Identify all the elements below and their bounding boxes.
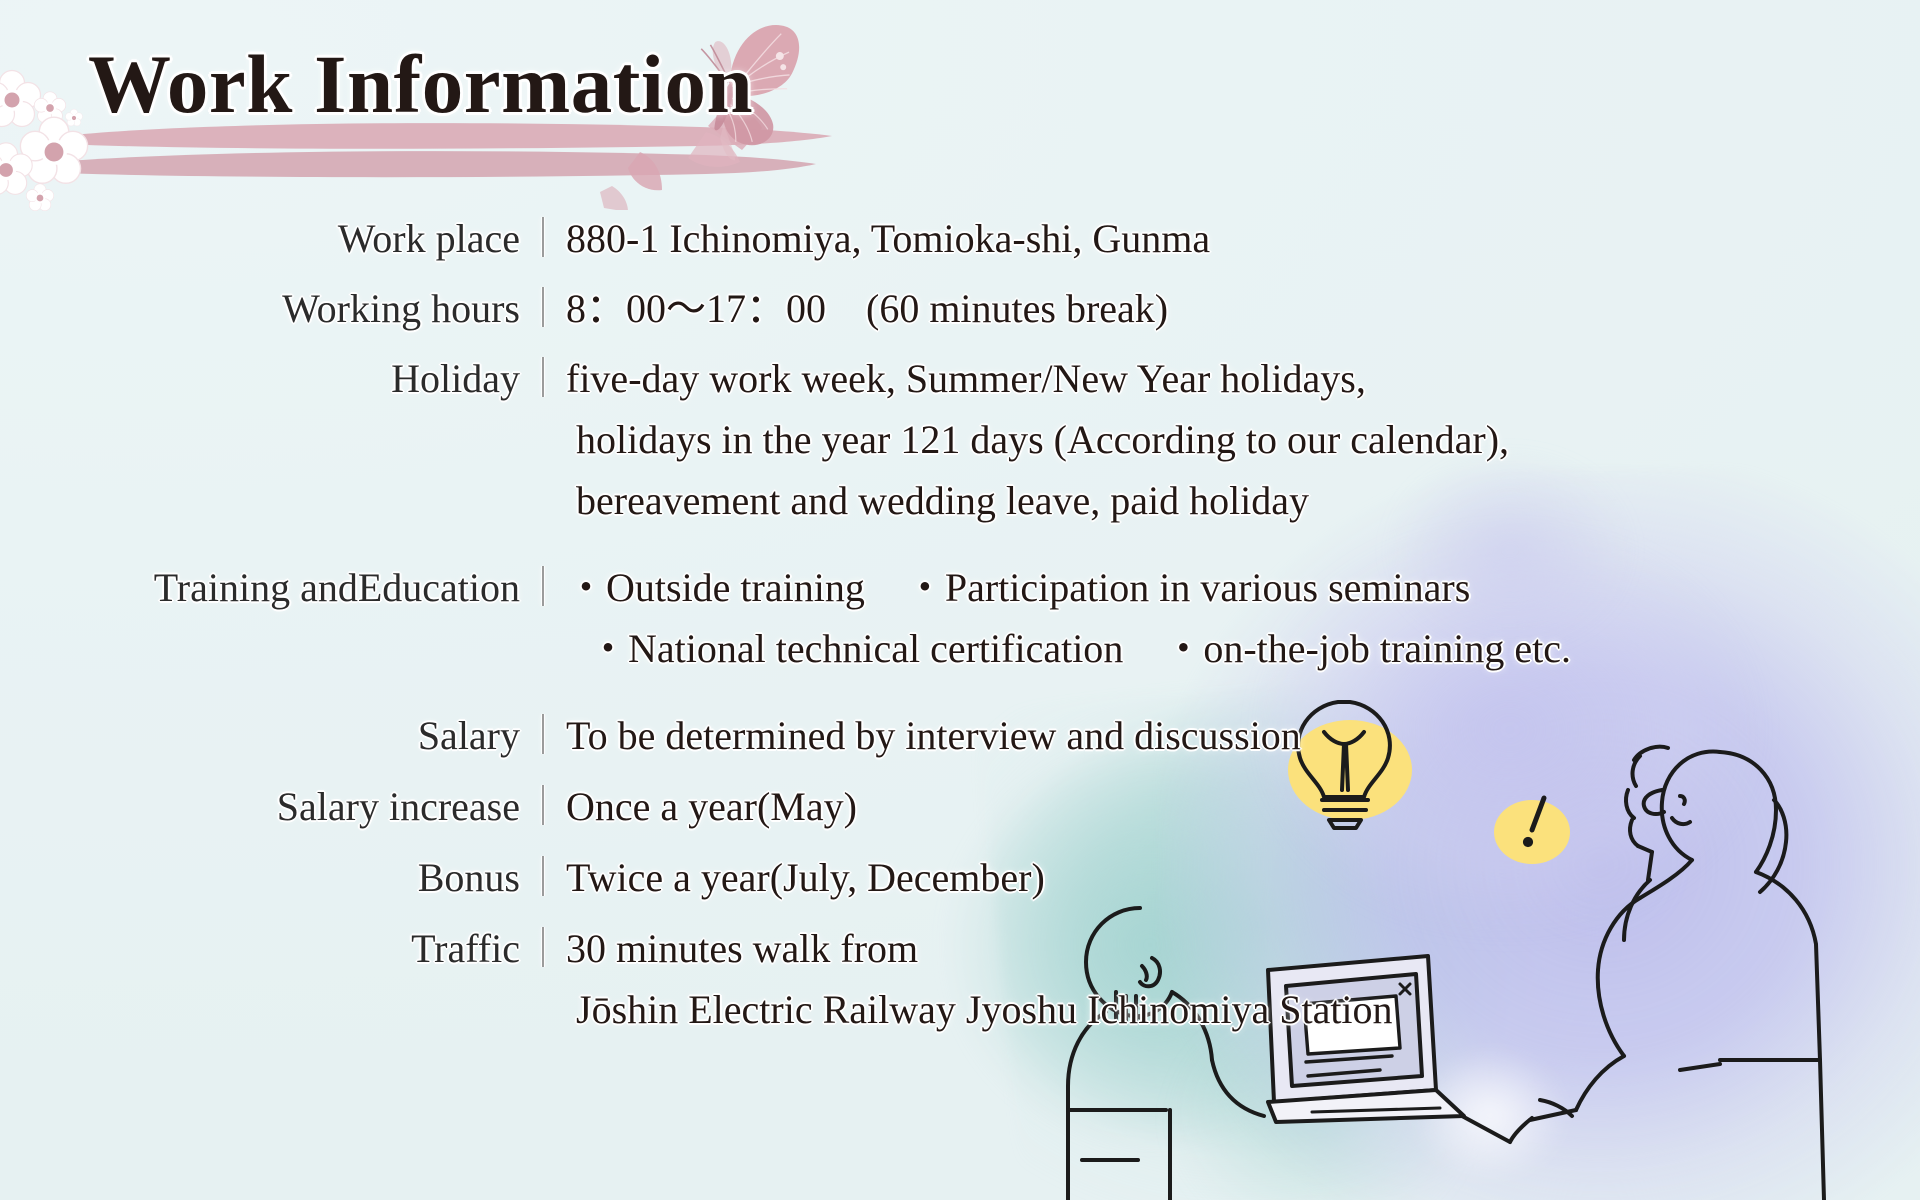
value-line: 880-1 Ichinomiya, Tomioka-shi, Gunma [566, 208, 1920, 269]
value-line: five-day work week, Summer/New Year holi… [566, 348, 1920, 409]
row-separator: ｜ [520, 557, 566, 618]
work-information-list: Work place ｜ 880-1 Ichinomiya, Tomioka-s… [0, 208, 1920, 1042]
value-line: bereavement and wedding leave, paid holi… [566, 470, 1920, 531]
value-holiday: five-day work week, Summer/New Year holi… [566, 348, 1920, 531]
info-row-salary: Salary ｜ To be determined by interview a… [0, 705, 1920, 766]
value-line: Once a year(May) [566, 776, 1920, 837]
value-salary: To be determined by interview and discus… [566, 705, 1920, 766]
value-line: ・National technical certification ・on-th… [566, 618, 1920, 679]
slide-root: Work Information [0, 0, 1920, 1200]
info-row-bonus: Bonus ｜ Twice a year(July, December) [0, 847, 1920, 908]
label-bonus: Bonus [0, 847, 520, 908]
label-salary-increase: Salary increase [0, 776, 520, 837]
row-separator: ｜ [520, 208, 566, 269]
row-separator: ｜ [520, 278, 566, 339]
value-line: 30 minutes walk from [566, 918, 1920, 979]
value-line: Twice a year(July, December) [566, 847, 1920, 908]
value-line: 8：00〜17：00 (60 minutes break) [566, 278, 1920, 339]
value-line: ・Outside training ・Participation in vari… [566, 557, 1920, 618]
value-line: Jōshin Electric Railway Jyoshu Ichinomiy… [566, 979, 1920, 1040]
value-working-hours: 8：00〜17：00 (60 minutes break) [566, 278, 1920, 339]
value-work-place: 880-1 Ichinomiya, Tomioka-shi, Gunma [566, 208, 1920, 269]
info-row-traffic: Traffic ｜ 30 minutes walk from Jōshin El… [0, 918, 1920, 1040]
row-separator: ｜ [520, 348, 566, 409]
page-header: Work Information [0, 0, 1920, 210]
row-separator: ｜ [520, 776, 566, 837]
page-title: Work Information [88, 36, 753, 132]
label-training-and-education: Training andEducation [0, 557, 520, 618]
row-separator: ｜ [520, 918, 566, 979]
row-separator: ｜ [520, 847, 566, 908]
info-row-training-and-education: Training andEducation ｜ ・Outside trainin… [0, 557, 1920, 679]
label-salary: Salary [0, 705, 520, 766]
info-row-working-hours: Working hours ｜ 8：00〜17：00 (60 minutes b… [0, 278, 1920, 339]
label-holiday: Holiday [0, 348, 520, 409]
value-line: holidays in the year 121 days (According… [566, 409, 1920, 470]
value-bonus: Twice a year(July, December) [566, 847, 1920, 908]
info-row-salary-increase: Salary increase ｜ Once a year(May) [0, 776, 1920, 837]
label-working-hours: Working hours [0, 278, 520, 339]
label-work-place: Work place [0, 208, 520, 269]
row-separator: ｜ [520, 705, 566, 766]
info-row-holiday: Holiday ｜ five-day work week, Summer/New… [0, 348, 1920, 531]
value-line: To be determined by interview and discus… [566, 705, 1920, 766]
value-traffic: 30 minutes walk from Jōshin Electric Rai… [566, 918, 1920, 1040]
label-traffic: Traffic [0, 918, 520, 979]
value-training-and-education: ・Outside training ・Participation in vari… [566, 557, 1920, 679]
info-row-work-place: Work place ｜ 880-1 Ichinomiya, Tomioka-s… [0, 208, 1920, 269]
value-salary-increase: Once a year(May) [566, 776, 1920, 837]
